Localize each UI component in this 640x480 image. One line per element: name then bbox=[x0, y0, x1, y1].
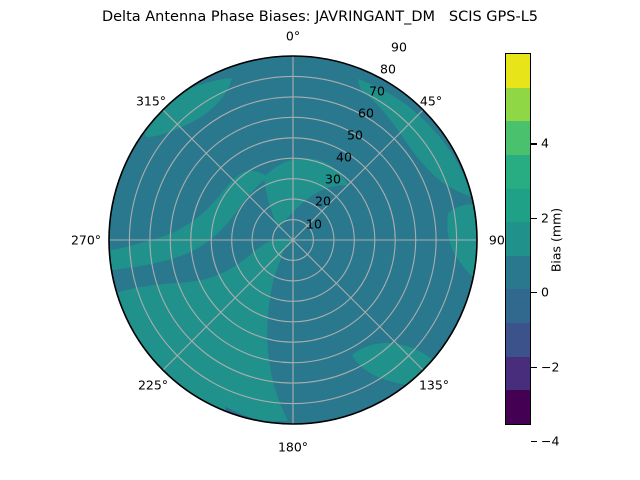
colorbar-gradient bbox=[505, 53, 531, 425]
radial-tick-40: 40 bbox=[336, 150, 352, 165]
colorbar-tick-mark-n2 bbox=[531, 367, 537, 368]
colorbar-band-2 bbox=[506, 121, 530, 155]
angular-tick-180: 180° bbox=[278, 440, 308, 455]
page-title: Delta Antenna Phase Biases: JAVRINGANT_D… bbox=[0, 9, 640, 25]
colorbar-band-1 bbox=[506, 88, 530, 122]
angular-tick-45: 45° bbox=[420, 94, 442, 109]
polar-axes[interactable]: 0° 45° 90° 135° 180° 225° 270° 315° 10 2… bbox=[108, 55, 478, 425]
radial-tick-50: 50 bbox=[347, 128, 363, 143]
colorbar-tick-label-n2: −2 bbox=[541, 359, 559, 374]
radial-tick-90: 90 bbox=[391, 40, 407, 55]
angular-tick-315: 315° bbox=[136, 94, 166, 109]
polar-contour-plot[interactable] bbox=[108, 55, 478, 425]
polar-grid bbox=[109, 56, 477, 424]
colorbar[interactable]: 4 2 0 −2 −4 bbox=[505, 53, 531, 425]
colorbar-band-0 bbox=[506, 54, 530, 88]
colorbar-tick-mark-n4 bbox=[531, 441, 537, 442]
radial-tick-20: 20 bbox=[315, 194, 331, 209]
radial-tick-70: 70 bbox=[369, 84, 385, 99]
radial-tick-80: 80 bbox=[380, 62, 396, 77]
colorbar-band-7 bbox=[506, 289, 530, 323]
angular-tick-0: 0° bbox=[286, 29, 300, 44]
colorbar-tick-label-4: 4 bbox=[541, 136, 549, 151]
angular-tick-135: 135° bbox=[419, 378, 449, 393]
colorbar-band-5 bbox=[506, 222, 530, 256]
radial-tick-10: 10 bbox=[306, 217, 322, 232]
colorbar-band-6 bbox=[506, 256, 530, 290]
colorbar-axis-label: Bias (mm) bbox=[549, 208, 564, 272]
colorbar-tick-mark-2 bbox=[531, 218, 537, 219]
angular-tick-225: 225° bbox=[138, 378, 168, 393]
colorbar-band-9 bbox=[506, 357, 530, 391]
colorbar-tick-mark-0 bbox=[531, 292, 537, 293]
angular-tick-270: 270° bbox=[71, 233, 101, 248]
colorbar-tick-label-0: 0 bbox=[541, 285, 549, 300]
colorbar-band-8 bbox=[506, 323, 530, 357]
colorbar-band-10 bbox=[506, 390, 530, 424]
colorbar-band-3 bbox=[506, 155, 530, 189]
radial-tick-30: 30 bbox=[325, 172, 341, 187]
radial-tick-60: 60 bbox=[358, 106, 374, 121]
colorbar-band-4 bbox=[506, 189, 530, 223]
colorbar-tick-mark-4 bbox=[531, 143, 537, 144]
colorbar-tick-label-n4: −4 bbox=[541, 434, 559, 449]
figure-canvas: Delta Antenna Phase Biases: JAVRINGANT_D… bbox=[0, 0, 640, 480]
